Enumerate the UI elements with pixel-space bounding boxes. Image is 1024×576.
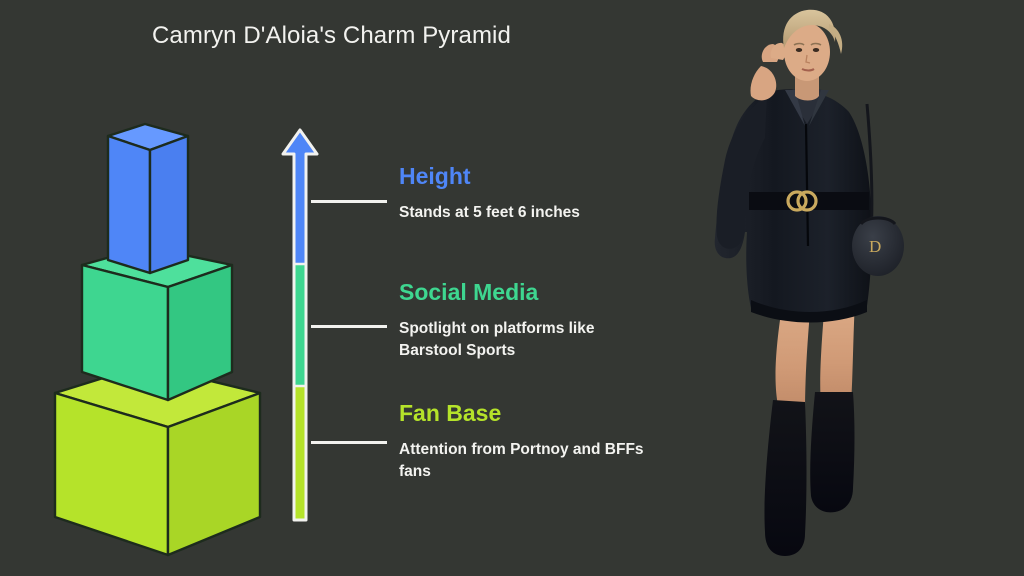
section-fan-base: Fan Base Attention from Portnoy and BFFs… (399, 400, 661, 483)
section-heading-social-media: Social Media (399, 279, 661, 306)
section-body-social-media: Spotlight on platforms like Barstool Spo… (399, 318, 661, 362)
connector-line-social-media (311, 325, 387, 328)
section-social-media: Social Media Spotlight on platforms like… (399, 279, 661, 362)
slide-canvas: Camryn D'Aloia's Charm Pyramid (0, 0, 1024, 576)
section-heading-fan-base: Fan Base (399, 400, 661, 427)
section-heading-height: Height (399, 163, 661, 190)
bag-charm-icon: D (869, 237, 881, 256)
charm-pyramid-graphic (40, 110, 290, 560)
belt (749, 192, 869, 210)
head (783, 10, 842, 101)
section-body-height: Stands at 5 feet 6 inches (399, 202, 661, 224)
section-body-fan-base: Attention from Portnoy and BFFs fans (399, 439, 661, 483)
boots (764, 392, 854, 556)
connector-line-fan-base (311, 441, 387, 444)
hand (750, 66, 776, 100)
connector-line-height (311, 200, 387, 203)
section-height: Height Stands at 5 feet 6 inches (399, 163, 661, 224)
pyramid-block-height (108, 124, 188, 273)
arrow-segment-fan-base (276, 386, 324, 526)
person-photo: D (655, 0, 1024, 576)
arrow-segment-height (276, 126, 324, 264)
page-title: Camryn D'Aloia's Charm Pyramid (152, 22, 511, 50)
